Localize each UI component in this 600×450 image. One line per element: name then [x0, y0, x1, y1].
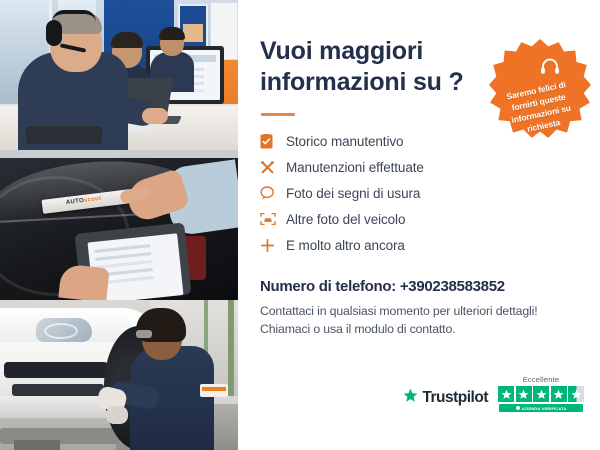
feature-item-foto-segni-usura: Foto dei segni di usura — [260, 180, 578, 206]
feature-item-altre-foto-veicolo: Altre foto del veicolo — [260, 206, 578, 232]
verified-business-badge: AZIENDA VERIFICATA — [499, 404, 583, 412]
car-frame-icon — [260, 212, 286, 226]
feature-item-label: Manutenzioni effettuate — [286, 160, 424, 175]
title-divider — [261, 113, 295, 116]
feature-list: Storico manutentivo Manutenzioni effettu… — [260, 128, 578, 258]
feature-item-label: Foto dei segni di usura — [286, 186, 420, 201]
page-title: Vuoi maggiori informazioni su ? — [260, 36, 475, 97]
trustpilot-rating-label: Eccellente — [523, 375, 560, 384]
trustpilot-brand: Trustpilot — [422, 389, 488, 407]
content-panel: Vuoi maggiori informazioni su ? Storico … — [238, 0, 600, 450]
star-half — [568, 386, 584, 402]
feature-item-label: E molto altro ancora — [286, 238, 405, 253]
feature-item-molto-altro: E molto altro ancora — [260, 232, 578, 258]
feature-item-label: Storico manutentivo — [286, 134, 403, 149]
verified-badge-label: AZIENDA VERIFICATA — [522, 406, 567, 411]
feature-item-manutenzioni-effettuate: Manutenzioni effettuate — [260, 154, 578, 180]
contact-note: Contattaci in qualsiasi momento per ulte… — [260, 302, 578, 339]
phone-label: Numero di telefono: — [260, 278, 396, 295]
clipboard-check-icon — [260, 134, 286, 149]
ruler-brand-text: AUTOscout — [66, 196, 102, 206]
feature-item-label: Altre foto del veicolo — [286, 212, 405, 227]
phone-line: Numero di telefono: +390238583852 — [260, 278, 578, 295]
callout-badge: Saremo felici di fornirti queste informa… — [488, 38, 592, 142]
promo-banner: AUTOscout Vuoi maggiori informazioni su … — [0, 0, 600, 450]
plus-icon — [260, 238, 286, 253]
trustpilot-widget[interactable]: Trustpilot Eccellente — [403, 375, 584, 412]
star-filled — [516, 386, 532, 402]
call-center-agents-photo — [0, 0, 238, 150]
speech-bubble-icon — [260, 186, 286, 200]
contact-note-line-2: Chiamaci o usa il modulo di contatto. — [260, 320, 578, 338]
mechanic-wheel-photo — [0, 300, 238, 450]
trustpilot-stars — [498, 386, 584, 402]
contact-block: Numero di telefono: +390238583852 Contat… — [260, 278, 578, 339]
star-filled — [498, 386, 514, 402]
vehicle-inspection-photo: AUTOscout — [0, 150, 238, 300]
trustpilot-rating: Eccellente — [498, 375, 584, 412]
photo-column: AUTOscout — [0, 0, 238, 450]
tools-cross-icon — [260, 160, 286, 175]
trustpilot-logo: Trustpilot — [403, 388, 488, 412]
verified-check-icon — [516, 406, 520, 410]
contact-note-line-1: Contattaci in qualsiasi momento per ulte… — [260, 302, 578, 320]
phone-number[interactable]: +390238583852 — [400, 278, 505, 295]
trustpilot-star-icon — [403, 388, 418, 408]
star-filled — [551, 386, 567, 402]
star-filled — [533, 386, 549, 402]
